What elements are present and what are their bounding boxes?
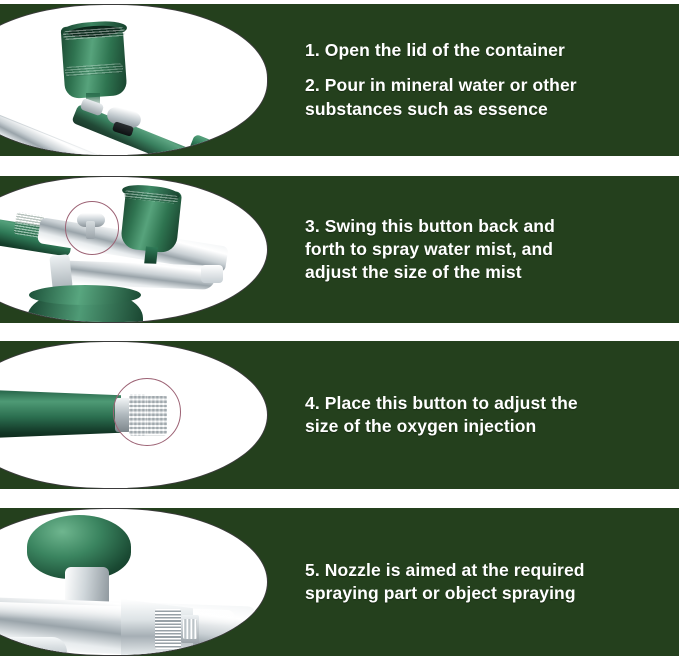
step-line: 2. Pour in mineral water or other substa… — [305, 74, 663, 120]
step-line: 5. Nozzle is aimed at the required spray… — [305, 559, 663, 605]
instruction-panel-1: 1. Open the lid of the container 2. Pour… — [0, 4, 679, 156]
step-line: 1. Open the lid of the container — [305, 39, 663, 62]
step-line: 3. Swing this button back and forth to s… — [305, 215, 663, 284]
product-photo-card-3 — [0, 341, 268, 489]
instruction-text-2: 3. Swing this button back and forth to s… — [305, 176, 663, 323]
instruction-panel-3: 4. Place this button to adjust the size … — [0, 341, 679, 489]
airbrush-illustration-nozzle — [0, 509, 267, 655]
instruction-text-3: 4. Place this button to adjust the size … — [305, 341, 663, 489]
highlight-circle — [113, 378, 181, 446]
airbrush-illustration-knurled-knob — [0, 342, 267, 488]
airbrush-illustration-trigger — [0, 177, 267, 322]
instruction-panel-4: 5. Nozzle is aimed at the required spray… — [0, 508, 679, 656]
product-photo-card-4 — [0, 508, 268, 656]
instruction-text-1: 1. Open the lid of the container 2. Pour… — [305, 4, 663, 156]
instruction-text-4: 5. Nozzle is aimed at the required spray… — [305, 508, 663, 656]
product-photo-card-2 — [0, 176, 268, 323]
airbrush-illustration-open-lid — [0, 5, 267, 155]
highlight-circle — [65, 201, 119, 255]
instruction-sheet: 1. Open the lid of the container 2. Pour… — [0, 0, 679, 660]
instruction-panel-2: 3. Swing this button back and forth to s… — [0, 176, 679, 323]
product-photo-card-1 — [0, 4, 268, 156]
step-line: 4. Place this button to adjust the size … — [305, 392, 663, 438]
